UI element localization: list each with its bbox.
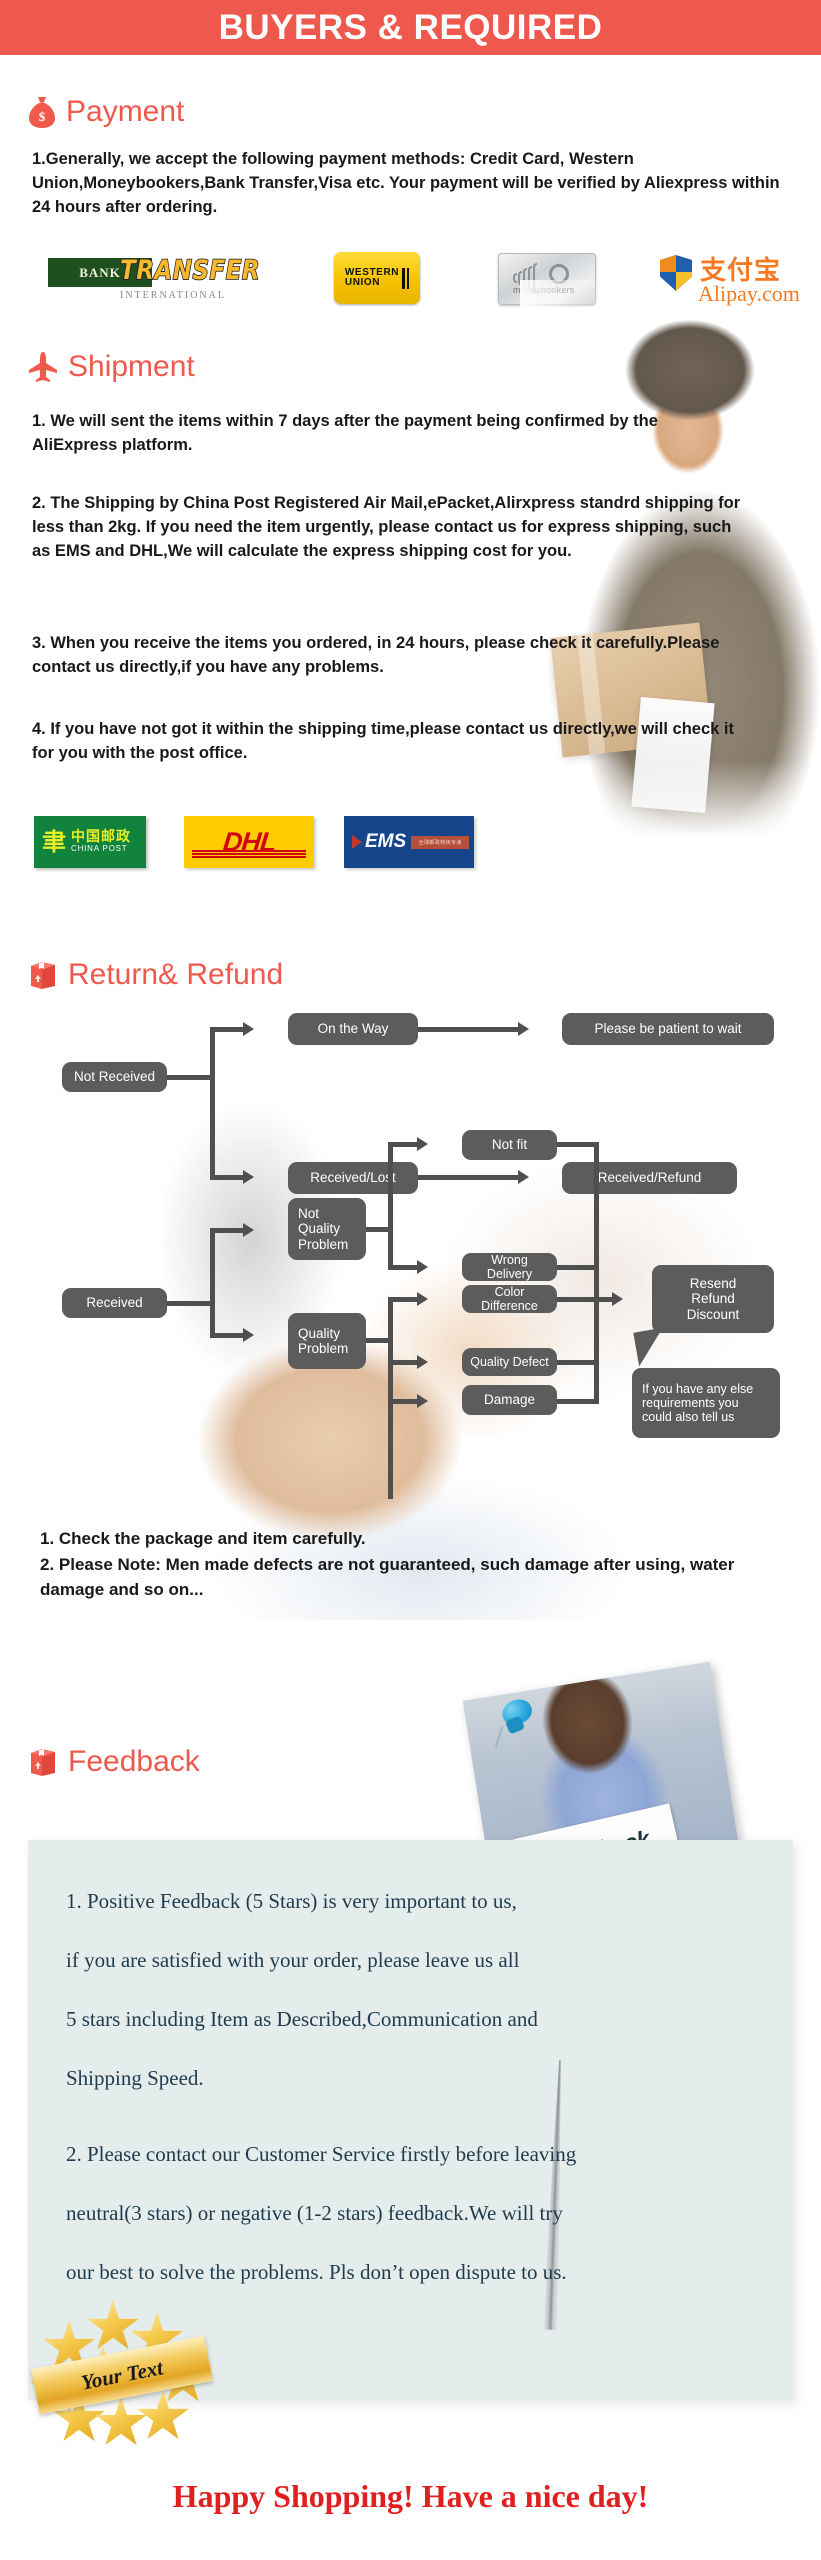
flow-node-received-refund: Received/Refund <box>562 1162 737 1194</box>
moneybookers-logo: moneybookers <box>498 253 596 305</box>
flow-arrow <box>518 1022 529 1036</box>
flow-connector <box>167 1075 215 1080</box>
moneybookers-word: moneybookers <box>513 285 574 295</box>
callout-tail-icon <box>633 1328 668 1367</box>
flow-connector <box>167 1301 215 1306</box>
section-heading-feedback: Feedback <box>28 1745 200 1779</box>
flow-connector <box>388 1297 393 1343</box>
china-post-emblem-icon: ⾀ <box>42 830 66 854</box>
section-heading-shipment: Shipment <box>28 350 195 384</box>
flow-node-resend-refund-discount: Resend Refund Discount <box>652 1265 774 1333</box>
flow-node-not-fit: Not fit <box>462 1130 557 1160</box>
pushpin-icon <box>492 1700 538 1750</box>
feedback-paragraph-1: 1. Positive Feedback (5 Stars) is very i… <box>66 1872 766 2108</box>
return-refund-notes: 1. Check the package and item carefully.… <box>40 1526 780 1603</box>
alipay-logo: 支付宝 Alipay.com <box>660 252 815 308</box>
flow-arrow <box>612 1292 623 1306</box>
return-box-icon <box>28 1746 58 1778</box>
flow-node-please-wait: Please be patient to wait <box>562 1013 774 1045</box>
ems-word: EMS <box>365 831 406 853</box>
flow-connector <box>418 1175 523 1180</box>
svg-text:$: $ <box>39 109 46 124</box>
flow-node-quality-defect: Quality Defect <box>462 1348 557 1376</box>
flow-arrow <box>417 1137 428 1151</box>
flow-arrow <box>417 1355 428 1369</box>
flow-node-not-received: Not Received <box>62 1062 167 1092</box>
section-heading-payment: $ Payment <box>28 95 184 129</box>
flow-node-quality-problem: Quality Problem <box>288 1313 366 1369</box>
section-title-return-refund: Return& Refund <box>68 958 283 992</box>
flow-connector <box>557 1399 599 1404</box>
bank-transfer-transfer-word: TRANSFER <box>120 256 260 286</box>
section-heading-return-refund: Return& Refund <box>28 958 283 992</box>
flow-node-wrong-delivery: Wrong Delivery <box>462 1253 557 1281</box>
ems-sub-word: 全球邮政特快专递 <box>419 839 462 846</box>
flow-connector <box>393 1297 419 1302</box>
flow-connector <box>557 1142 599 1147</box>
flow-connector <box>557 1360 599 1365</box>
flow-connector <box>215 1333 245 1338</box>
flow-connector <box>215 1027 245 1032</box>
flow-connector <box>215 1228 245 1233</box>
alipay-domain-word: Alipay.com <box>698 281 800 307</box>
flow-arrow <box>243 1328 254 1342</box>
flow-connector <box>210 1228 215 1338</box>
flow-connector <box>388 1142 393 1270</box>
flow-arrow <box>243 1022 254 1036</box>
china-post-chinese-word: 中国邮政 <box>71 830 131 845</box>
product-policy-page: BUYERS & REQUIRED $ Payment 1.Generally,… <box>0 0 821 2560</box>
flow-connector <box>557 1265 599 1270</box>
shipment-paragraph-2: 2. The Shipping by China Post Registered… <box>32 492 752 564</box>
flow-connector <box>557 1297 615 1302</box>
gold-star-seal: Your Text <box>28 2300 220 2450</box>
china-post-english-word: CHINA POST <box>71 845 131 853</box>
section-title-shipment: Shipment <box>68 350 195 384</box>
bank-transfer-sub-word: INTERNATIONAL <box>120 290 226 301</box>
flow-connector <box>215 1175 245 1180</box>
dhl-stripes-icon <box>192 850 306 856</box>
feedback-paragraph-2: 2. Please contact our Customer Service f… <box>66 2125 776 2302</box>
closing-message: Happy Shopping! Have a nice day! <box>0 2478 821 2515</box>
return-refund-flowchart: Not Received On the Way Please be patien… <box>0 1000 821 1520</box>
section-title-feedback: Feedback <box>68 1745 200 1779</box>
payment-body-text: 1.Generally, we accept the following pay… <box>32 148 792 220</box>
flow-node-received: Received <box>62 1288 167 1318</box>
flow-arrow <box>518 1170 529 1184</box>
bank-transfer-bank-word: BANK <box>79 265 121 281</box>
moneybookers-ring-icon <box>549 264 569 284</box>
flow-arrow <box>417 1292 428 1306</box>
page-banner: BUYERS & REQUIRED <box>0 0 821 55</box>
shipment-paragraph-1: 1. We will sent the items within 7 days … <box>32 410 732 458</box>
shipping-carrier-logos-row: ⾀ 中国邮政 CHINA POST DHL EMS 全球邮政特快专递 <box>34 816 734 868</box>
section-title-payment: Payment <box>66 95 184 129</box>
flow-arrow <box>243 1170 254 1184</box>
flow-connector <box>393 1142 419 1147</box>
return-box-icon <box>28 959 58 991</box>
flow-connector <box>418 1027 523 1032</box>
western-union-bars-icon <box>402 268 409 289</box>
alipay-shield-icon <box>660 255 692 291</box>
flow-arrow <box>417 1394 428 1408</box>
flow-node-color-difference: Color Difference <box>462 1285 557 1313</box>
flow-arrow <box>417 1260 428 1274</box>
money-bag-icon: $ <box>28 95 56 129</box>
shipment-paragraph-4: 4. If you have not got it within the shi… <box>32 718 752 766</box>
flow-connector <box>393 1399 419 1404</box>
flow-node-on-the-way: On the Way <box>288 1013 418 1045</box>
western-union-logo: WESTERN UNION <box>334 252 420 304</box>
flow-arrow <box>243 1223 254 1237</box>
flow-node-not-quality-problem: Not Quality Problem <box>288 1198 366 1260</box>
flow-connector <box>393 1265 419 1270</box>
shipment-paragraph-3: 3. When you receive the items you ordere… <box>32 632 762 680</box>
flow-connector <box>393 1360 419 1365</box>
airplane-icon <box>28 351 58 383</box>
flow-connector <box>210 1027 215 1180</box>
china-post-logo: ⾀ 中国邮政 CHINA POST <box>34 816 146 868</box>
dhl-logo: DHL <box>184 816 314 868</box>
payment-logos-row: BANK TRANSFER INTERNATIONAL WESTERN UNIO… <box>48 252 768 314</box>
bank-transfer-logo: BANK TRANSFER INTERNATIONAL <box>48 256 238 306</box>
flow-node-damage: Damage <box>462 1385 557 1415</box>
banner-title: BUYERS & REQUIRED <box>219 8 603 48</box>
ems-logo: EMS 全球邮政特快专递 <box>344 816 474 868</box>
seal-ribbon-text: Your Text <box>79 2355 165 2395</box>
flow-callout-extra-requirements: If you have any else requirements you co… <box>632 1368 780 1438</box>
flow-node-received-lost: Received/Lost <box>288 1162 418 1194</box>
western-union-line2: UNION <box>345 278 399 289</box>
ems-triangle-icon <box>352 835 362 849</box>
